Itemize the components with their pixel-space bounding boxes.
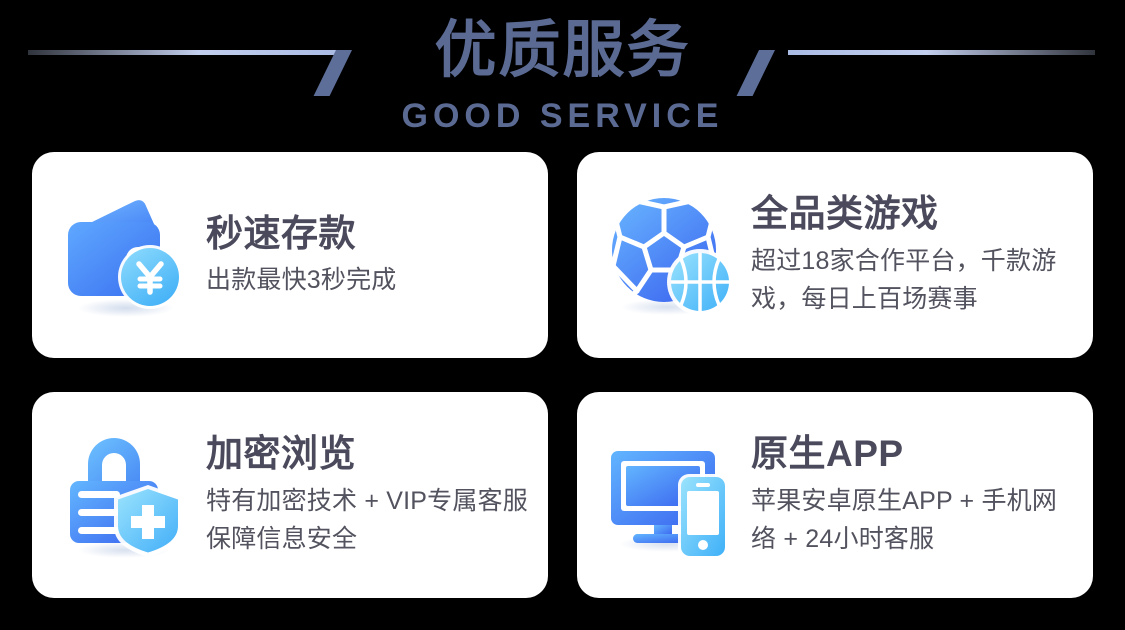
card-title: 秒速存款	[206, 212, 530, 256]
header: 优质服务 GOOD SERVICE	[0, 0, 1125, 145]
card-description: 苹果安卓原生APP + 手机网络 + 24小时客服	[751, 482, 1075, 558]
page-subtitle: GOOD SERVICE	[0, 96, 1125, 136]
feature-card-native-app[interactable]: 原生APP 苹果安卓原生APP + 手机网络 + 24小时客服	[577, 392, 1093, 598]
feature-card-games[interactable]: 全品类游戏 超过18家合作平台，千款游戏，每日上百场赛事	[577, 152, 1093, 358]
feature-card-grid: 秒速存款 出款最快3秒完成	[32, 152, 1093, 598]
monitor-phone-icon	[607, 431, 735, 559]
card-title: 全品类游戏	[751, 192, 1075, 236]
card-text: 秒速存款 出款最快3秒完成	[206, 212, 530, 298]
card-text: 加密浏览 特有加密技术 + VIP专属客服保障信息安全	[206, 432, 530, 558]
card-text: 全品类游戏 超过18家合作平台，千款游戏，每日上百场赛事	[751, 192, 1075, 318]
card-title: 原生APP	[751, 432, 1075, 476]
promo-banner: 优质服务 GOOD SERVICE	[0, 0, 1125, 630]
card-description: 特有加密技术 + VIP专属客服保障信息安全	[206, 482, 530, 558]
card-title: 加密浏览	[206, 432, 530, 476]
lock-shield-icon	[62, 431, 190, 559]
wallet-icon	[62, 191, 190, 319]
feature-card-deposit[interactable]: 秒速存款 出款最快3秒完成	[32, 152, 548, 358]
feature-card-encryption[interactable]: 加密浏览 特有加密技术 + VIP专属客服保障信息安全	[32, 392, 548, 598]
card-description: 超过18家合作平台，千款游戏，每日上百场赛事	[751, 242, 1075, 318]
page-title: 优质服务	[0, 14, 1125, 88]
soccer-ball-icon	[607, 191, 735, 319]
card-text: 原生APP 苹果安卓原生APP + 手机网络 + 24小时客服	[751, 432, 1075, 558]
card-description: 出款最快3秒完成	[206, 262, 530, 298]
